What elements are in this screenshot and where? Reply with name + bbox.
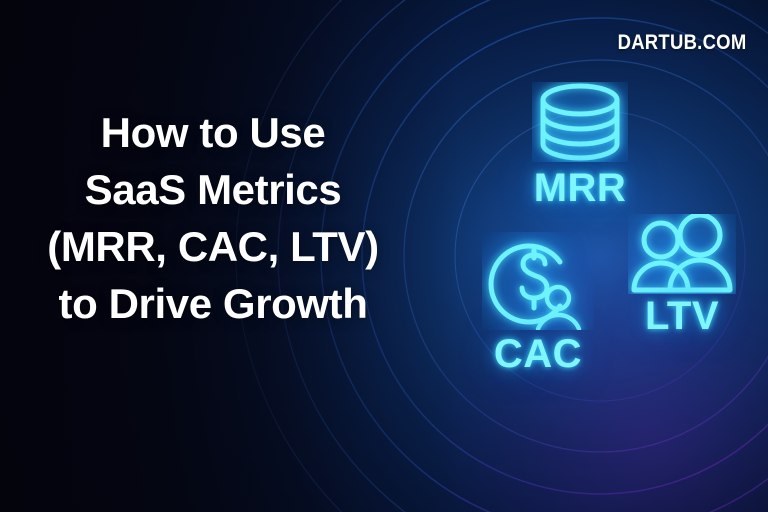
banner-canvas: DARTUB.COM How to Use SaaS Metrics (MRR,… (0, 0, 768, 512)
headline-line-2: SaaS Metrics (8, 161, 418, 218)
metric-cac: CAC (462, 232, 614, 374)
headline-line-3: (MRR, CAC, LTV) (8, 218, 418, 275)
two-users-icon (628, 214, 736, 294)
metric-mrr: MRR (506, 82, 654, 208)
headline-block: How to Use SaaS Metrics (MRR, CAC, LTV) … (8, 104, 418, 332)
headline-line-1: How to Use (8, 104, 418, 161)
database-stack-icon (532, 82, 628, 162)
metric-mrr-label: MRR (506, 168, 654, 208)
headline-line-4: to Drive Growth (8, 275, 418, 332)
dollar-circle-user-icon (482, 232, 594, 330)
metric-ltv: LTV (612, 214, 752, 336)
metric-cac-label: CAC (462, 334, 614, 374)
metric-ltv-label: LTV (612, 296, 752, 336)
site-logo: DARTUB.COM (617, 31, 746, 55)
